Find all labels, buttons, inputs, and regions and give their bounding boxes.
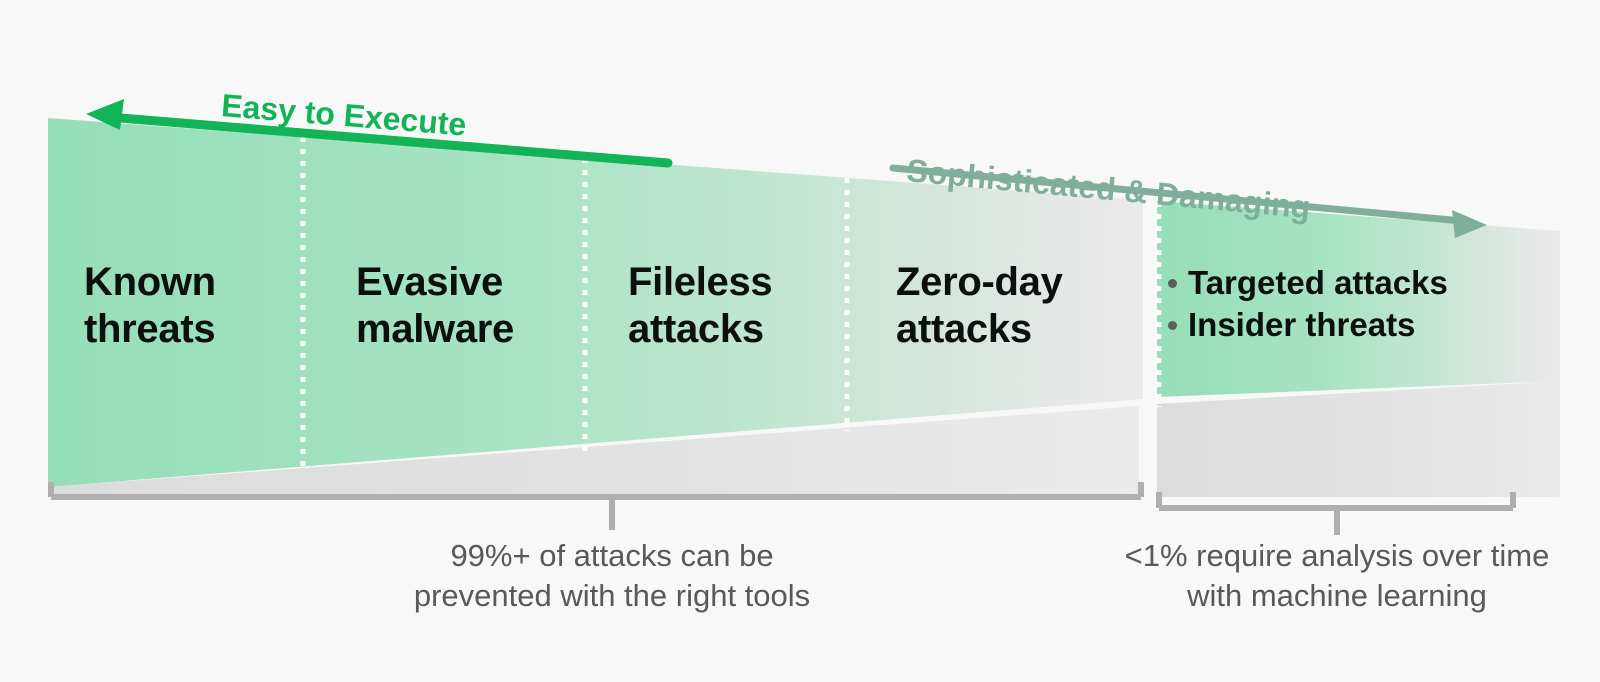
bullet-text: Insider threats [1188, 304, 1415, 346]
right-bracket [1159, 492, 1513, 535]
segment-label-fileless-attacks: Fileless attacks [628, 259, 772, 353]
segment-label-advanced-threats: Targeted attacks Insider threats [1168, 262, 1448, 346]
right-caption-text: <1% require analysis over time with mach… [1017, 536, 1600, 616]
diagram-canvas: Easy to Execute Sophisticated & Damaging… [0, 0, 1600, 682]
bullet-dot-icon [1168, 321, 1177, 330]
segment-label-zero-day-attacks: Zero-day attacks [896, 259, 1063, 353]
segment-label-known-threats: Known threats [84, 259, 216, 353]
segment-label-evasive-malware: Evasive malware [356, 259, 514, 353]
list-item: Insider threats [1168, 304, 1448, 346]
list-item: Targeted attacks [1168, 262, 1448, 304]
bullet-text: Targeted attacks [1188, 262, 1448, 304]
left-caption-text: 99%+ of attacks can be prevented with th… [292, 536, 932, 616]
bullet-dot-icon [1168, 279, 1177, 288]
